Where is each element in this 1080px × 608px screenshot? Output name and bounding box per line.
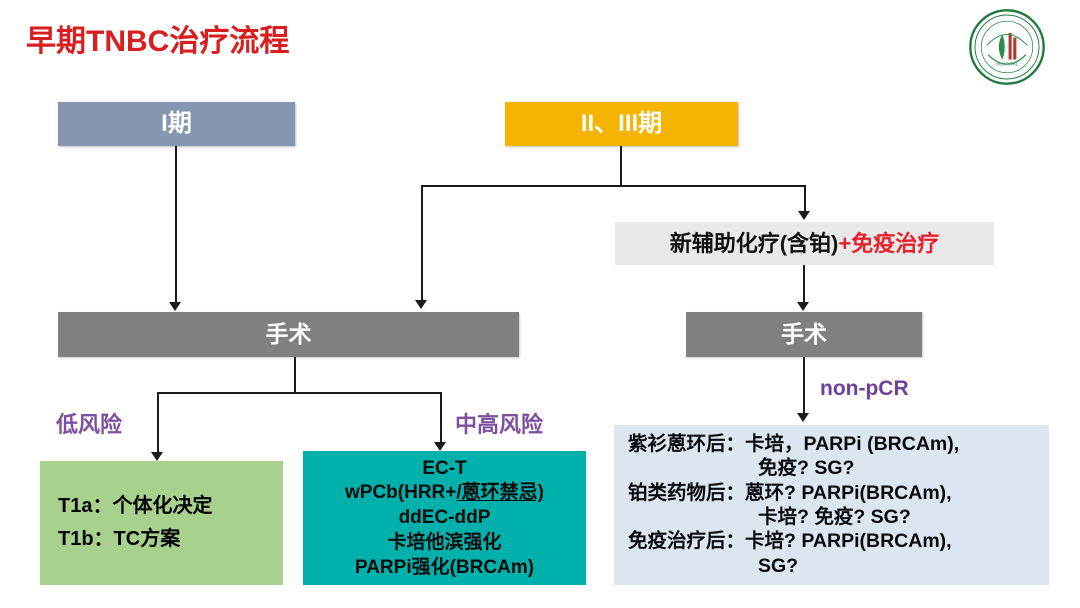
non-pcr-row-1-body: 蒽环? PARPi(BRCAm), bbox=[745, 481, 952, 505]
high-risk-line-3: ddEC-ddP bbox=[399, 506, 491, 530]
svg-text:HOSPITAL: HOSPITAL bbox=[996, 62, 1019, 67]
edge-split-right-arrow bbox=[798, 211, 810, 220]
non-pcr-row-2-lead: 免疫治疗后： bbox=[628, 529, 745, 553]
node-neoadjuvant-therapy[interactable]: 新辅助化疗(含铂)+免疫治疗 bbox=[615, 222, 994, 265]
high-risk-line-2: wPCb(HRR+/蒽环禁忌) bbox=[345, 481, 544, 505]
node-neoadjuvant-immuno-label: 免疫治疗 bbox=[851, 230, 939, 258]
node-surgery-right[interactable]: 手术 bbox=[686, 312, 922, 357]
low-risk-line-2: T1b：TC方案 bbox=[58, 527, 180, 552]
edge-stage23-stem bbox=[620, 146, 622, 186]
edge-label-non-pcr: non-pCR bbox=[820, 377, 909, 401]
node-neoadjuvant-chemo-label: 新辅助化疗(含铂) bbox=[670, 230, 839, 258]
node-non-pcr-options[interactable]: 紫衫蒽环后： 卡培，PARPi (BRCAm), 免疫? SG? 铂类药物后： … bbox=[614, 425, 1049, 585]
edge-split-left-arrow bbox=[415, 300, 427, 309]
high-risk-line-2-pre: wPCb(HRR+ bbox=[345, 482, 456, 503]
edge-neoadjuvant-to-surgery-arrow bbox=[797, 302, 809, 311]
page-title: 早期TNBC治疗流程 bbox=[26, 16, 289, 60]
node-stage-2-3-label: II、III期 bbox=[581, 109, 662, 139]
non-pcr-row-2-cont: SG? bbox=[628, 554, 798, 578]
node-low-risk-regimen[interactable]: T1a：个体化决定 T1b：TC方案 bbox=[40, 461, 283, 585]
edge-high-risk-leg bbox=[440, 392, 442, 444]
edge-surgery-stem bbox=[294, 357, 296, 393]
edge-label-low-risk: 低风险 bbox=[56, 407, 122, 439]
edge-stage1-to-surgery bbox=[175, 146, 177, 304]
node-neoadjuvant-plus: + bbox=[838, 230, 851, 258]
non-pcr-row-1-lead: 铂类药物后： bbox=[628, 481, 745, 505]
non-pcr-row: 免疫治疗后： 卡培? PARPi(BRCAm), bbox=[628, 529, 1049, 553]
edge-split-left-leg bbox=[421, 185, 423, 302]
high-risk-line-1: EC-T bbox=[422, 457, 466, 481]
edge-label-high-risk: 中高风险 bbox=[455, 407, 543, 439]
edge-nonpcr-arrow bbox=[797, 413, 809, 422]
edge-stage23-split-bar bbox=[421, 185, 806, 187]
node-stage-2-3[interactable]: II、III期 bbox=[505, 102, 738, 146]
non-pcr-row-0-cont: 免疫? SG? bbox=[628, 456, 854, 480]
edge-risk-split-bar bbox=[157, 392, 442, 394]
non-pcr-row-1-cont: 卡培? 免疫? SG? bbox=[628, 505, 911, 529]
non-pcr-row-0-lead: 紫衫蒽环后： bbox=[628, 432, 745, 456]
edge-low-risk-leg bbox=[157, 392, 159, 454]
flowchart-canvas: 早期TNBC治疗流程 HOSPITAL I期 II、III期 新辅助化疗(含铂)… bbox=[0, 0, 1080, 608]
edge-neoadjuvant-to-surgery bbox=[803, 265, 805, 304]
low-risk-line-1: T1a：个体化决定 bbox=[58, 494, 212, 519]
node-surgery-left[interactable]: 手术 bbox=[58, 312, 519, 357]
non-pcr-row: 铂类药物后： 蒽环? PARPi(BRCAm), bbox=[628, 481, 1049, 505]
high-risk-line-5: PARPi强化(BRCAm) bbox=[355, 556, 534, 580]
edge-high-risk-arrow bbox=[434, 442, 446, 451]
edge-split-right-leg bbox=[804, 185, 806, 213]
hospital-seal-logo: HOSPITAL bbox=[968, 8, 1046, 86]
node-stage-1-label: I期 bbox=[161, 109, 192, 139]
edge-stage1-to-surgery-arrow bbox=[169, 302, 181, 311]
node-stage-1[interactable]: I期 bbox=[58, 102, 295, 146]
non-pcr-row-0-body: 卡培，PARPi (BRCAm), bbox=[745, 432, 959, 456]
high-risk-line-4: 卡培他滨强化 bbox=[387, 531, 501, 555]
non-pcr-row: 紫衫蒽环后： 卡培，PARPi (BRCAm), bbox=[628, 432, 1049, 456]
edge-low-risk-arrow bbox=[151, 452, 163, 461]
node-surgery-right-label: 手术 bbox=[781, 320, 827, 349]
high-risk-line-2-underlined: /蒽环禁忌) bbox=[456, 482, 544, 503]
node-high-risk-regimen[interactable]: EC-T wPCb(HRR+/蒽环禁忌) ddEC-ddP 卡培他滨强化 PAR… bbox=[303, 451, 586, 585]
non-pcr-row-2-body: 卡培? PARPi(BRCAm), bbox=[745, 529, 952, 553]
edge-surgery-right-to-nonpcr bbox=[803, 357, 805, 415]
node-surgery-left-label: 手术 bbox=[266, 320, 312, 349]
